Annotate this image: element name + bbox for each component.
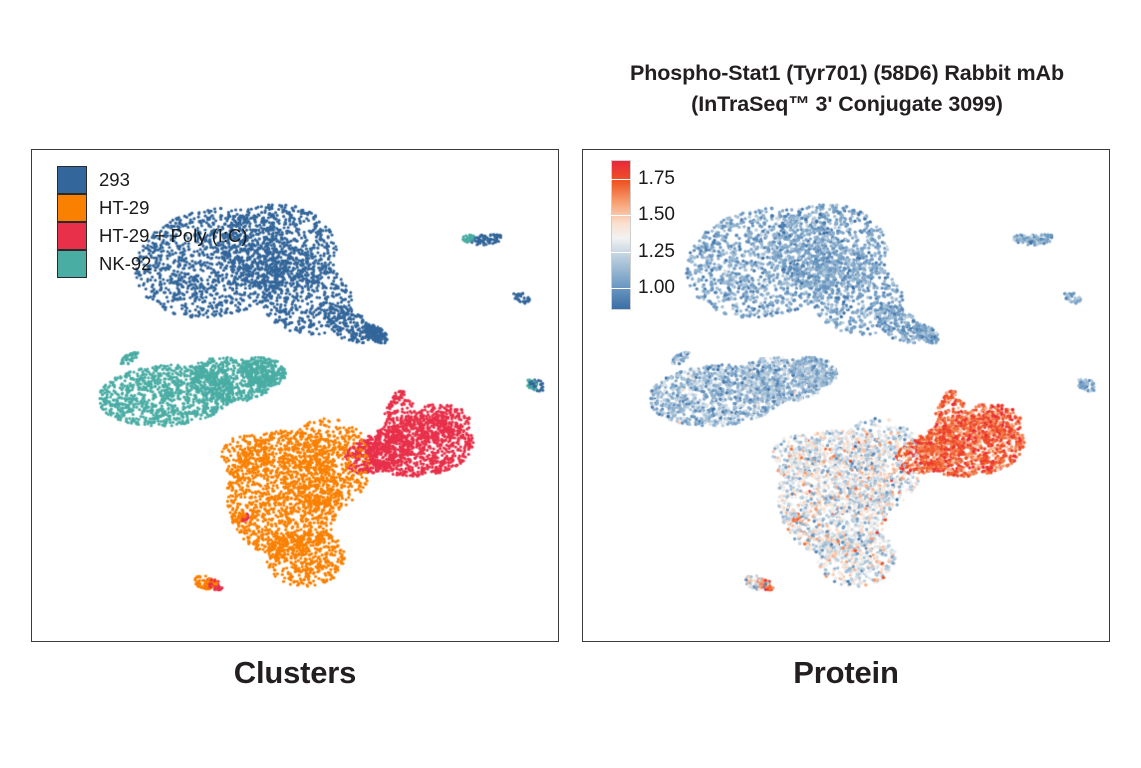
legend-swatch-293 <box>57 166 87 194</box>
panel-caption-protein: Protein <box>582 655 1110 691</box>
cluster-legend: 293 HT-29 HT-29 + Poly (I:C) NK-92 <box>57 166 248 278</box>
colorbar-tick-label-2: 1.25 <box>638 241 675 263</box>
legend-label-nk92: NK-92 <box>99 255 151 274</box>
legend-label-ht29-polyic: HT-29 + Poly (I:C) <box>99 227 248 246</box>
legend-swatch-nk92 <box>57 250 87 278</box>
legend-label-ht29: HT-29 <box>99 199 149 218</box>
colorbar-tick-label-3: 1.00 <box>638 277 675 299</box>
figure-title-line-2: (InTraSeq™ 3' Conjugate 3099) <box>582 89 1112 120</box>
panel-caption-clusters: Clusters <box>31 655 559 691</box>
colorbar-tick-mark-0 <box>611 179 631 180</box>
legend-swatch-ht29-polyic <box>57 222 87 250</box>
legend-item-nk92[interactable]: NK-92 <box>57 250 248 278</box>
figure-title-line-1: Phospho-Stat1 (Tyr701) (58D6) Rabbit mAb <box>582 58 1112 89</box>
legend-item-ht29-polyic[interactable]: HT-29 + Poly (I:C) <box>57 222 248 250</box>
colorbar-tick-mark-2 <box>611 252 631 253</box>
legend-item-ht29[interactable]: HT-29 <box>57 194 248 222</box>
legend-item-293[interactable]: 293 <box>57 166 248 194</box>
colorbar-tick-mark-1 <box>611 215 631 216</box>
colorbar-tick-label-0: 1.75 <box>638 168 675 190</box>
figure-title: Phospho-Stat1 (Tyr701) (58D6) Rabbit mAb… <box>582 58 1112 120</box>
legend-swatch-ht29 <box>57 194 87 222</box>
legend-label-293: 293 <box>99 171 130 190</box>
colorbar-tick-label-1: 1.50 <box>638 204 675 226</box>
colorbar-tick-mark-3 <box>611 288 631 289</box>
expression-colorbar: 1.751.501.251.00 <box>611 160 741 310</box>
